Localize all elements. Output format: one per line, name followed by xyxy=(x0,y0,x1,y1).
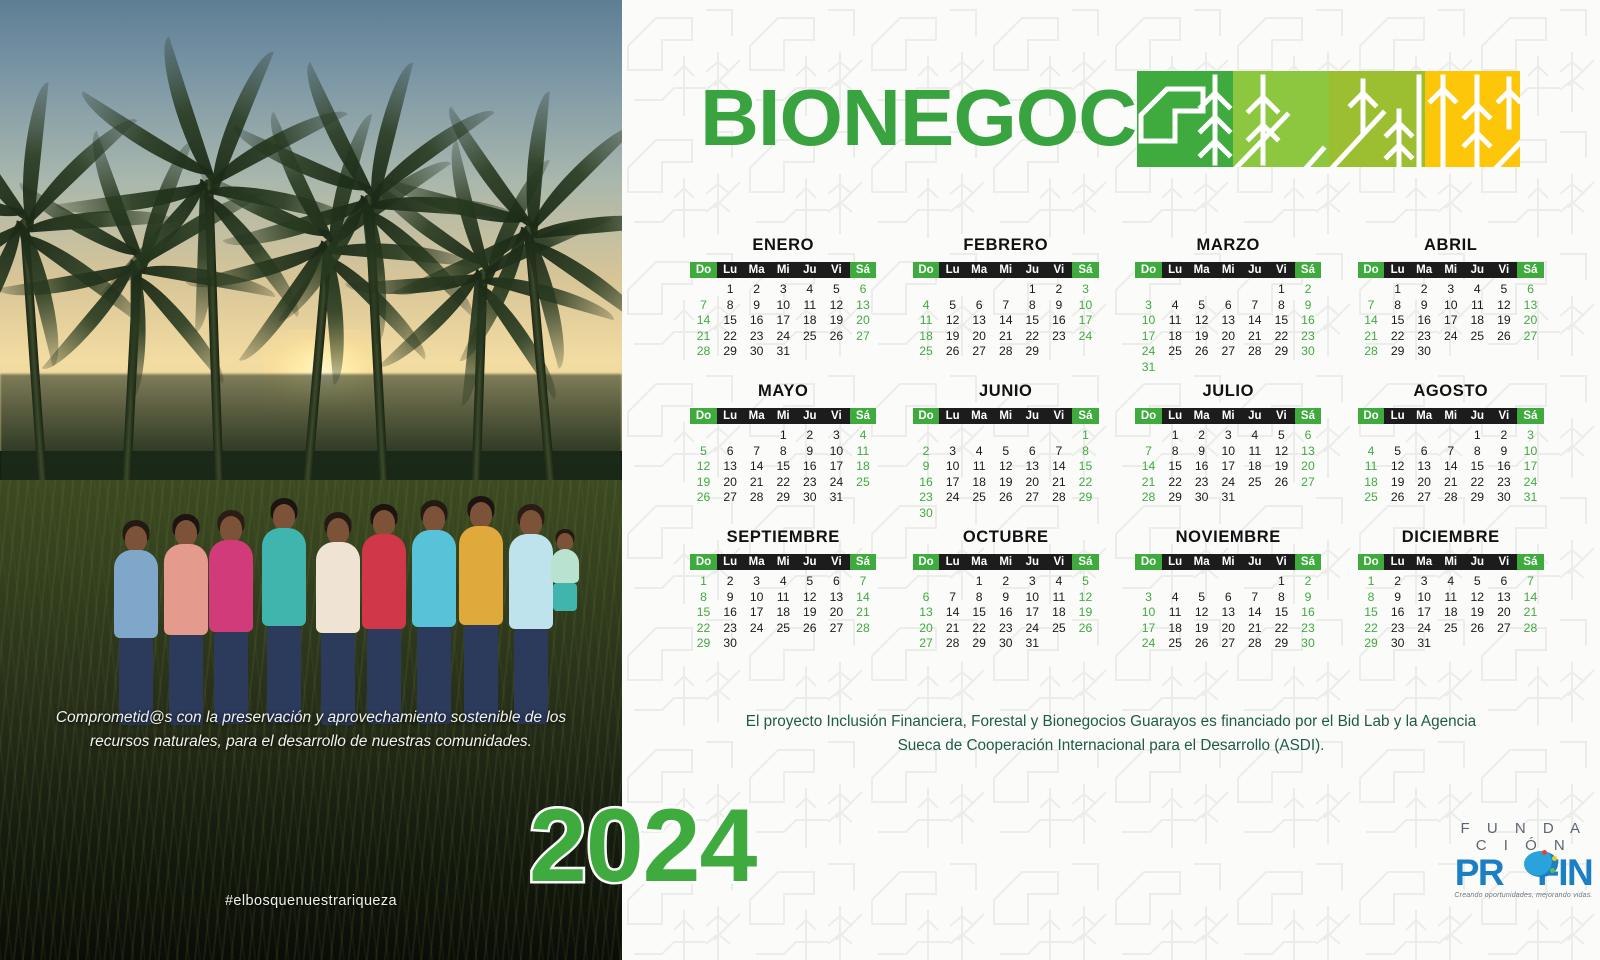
day-cell-empty xyxy=(939,428,966,444)
day-cell: 16 xyxy=(717,605,744,621)
day-cell: 26 xyxy=(1268,475,1295,491)
day-cell: 1 xyxy=(1358,574,1385,590)
day-cell: 13 xyxy=(1517,298,1544,314)
weekday-ju: Ju xyxy=(1242,554,1269,570)
day-cell: 8 xyxy=(770,444,797,460)
weekday-vi: Vi xyxy=(1046,408,1073,424)
day-cell: 6 xyxy=(717,444,744,460)
child-torso xyxy=(551,549,579,583)
weekday-do: Do xyxy=(1358,554,1385,570)
person-silhouette xyxy=(258,498,310,710)
day-cell: 24 xyxy=(823,475,850,491)
weekday-sá: Sá xyxy=(1295,408,1322,424)
day-cell: 17 xyxy=(1072,313,1099,329)
child-silhouette xyxy=(548,529,582,615)
weekday-ju: Ju xyxy=(1464,554,1491,570)
weekday-header-row: DoLuMaMiJuViSá xyxy=(1358,262,1544,278)
weekday-vi: Vi xyxy=(1046,554,1073,570)
day-cell: 1 xyxy=(966,574,993,590)
weekday-lu: Lu xyxy=(717,408,744,424)
weekday-ju: Ju xyxy=(1019,408,1046,424)
logo-row: F U N D A C I Ó N PRFIN Creando oportuni… xyxy=(1450,812,1600,907)
day-cell: 14 xyxy=(743,459,770,475)
day-cell: 10 xyxy=(1072,298,1099,314)
person-head xyxy=(373,510,395,536)
weekday-sá: Sá xyxy=(850,554,877,570)
profin-pre: PR xyxy=(1455,852,1503,893)
day-cell: 27 xyxy=(913,636,940,652)
day-cell-empty xyxy=(1135,282,1162,298)
weekday-vi: Vi xyxy=(1491,554,1518,570)
day-cell-empty xyxy=(1162,282,1189,298)
profin-tagline: Creando oportunidades, mejorando vidas. xyxy=(1450,892,1597,899)
day-cell: 16 xyxy=(1491,459,1518,475)
weekday-mi: Mi xyxy=(1215,554,1242,570)
day-cell: 5 xyxy=(797,574,824,590)
day-cell: 19 xyxy=(939,329,966,345)
profin-dot-green xyxy=(1550,868,1555,873)
day-cell: 30 xyxy=(797,490,824,506)
day-cell-empty xyxy=(1135,574,1162,590)
day-cell: 29 xyxy=(717,344,744,360)
day-cell: 7 xyxy=(1517,574,1544,590)
day-cell: 11 xyxy=(1242,444,1269,460)
day-cell: 29 xyxy=(1072,490,1099,506)
day-cell: 25 xyxy=(1437,621,1464,637)
weekday-ma: Ma xyxy=(1188,554,1215,570)
person-torso xyxy=(412,530,456,627)
day-cell: 30 xyxy=(913,506,940,522)
weekday-mi: Mi xyxy=(770,408,797,424)
day-cell: 25 xyxy=(770,621,797,637)
day-cell: 25 xyxy=(1162,636,1189,652)
day-cell: 27 xyxy=(1019,490,1046,506)
day-cell: 12 xyxy=(1188,605,1215,621)
day-cell: 22 xyxy=(1268,329,1295,345)
day-cell: 31 xyxy=(823,490,850,506)
day-cell-empty xyxy=(1188,282,1215,298)
weekday-lu: Lu xyxy=(1384,408,1411,424)
day-cell: 14 xyxy=(1437,459,1464,475)
weekday-do: Do xyxy=(1135,262,1162,278)
day-grid: 1234567891011121314151617181920212223242… xyxy=(1135,428,1321,506)
weekday-sá: Sá xyxy=(1517,408,1544,424)
day-cell: 19 xyxy=(1384,475,1411,491)
weekday-sá: Sá xyxy=(1517,262,1544,278)
day-cell: 24 xyxy=(1411,621,1438,637)
weekday-sá: Sá xyxy=(1517,554,1544,570)
day-cell: 26 xyxy=(1072,621,1099,637)
day-cell: 8 xyxy=(717,298,744,314)
day-cell: 9 xyxy=(797,444,824,460)
day-cell-empty xyxy=(690,428,717,444)
day-cell: 5 xyxy=(1188,590,1215,606)
day-cell: 6 xyxy=(966,298,993,314)
day-cell: 28 xyxy=(743,490,770,506)
day-cell: 19 xyxy=(797,605,824,621)
day-cell: 23 xyxy=(992,621,1019,637)
day-cell: 28 xyxy=(1358,344,1385,360)
month-febrero: FEBRERODoLuMaMiJuViSá1234567891011121314… xyxy=(895,236,1118,375)
weekday-mi: Mi xyxy=(770,262,797,278)
day-cell: 20 xyxy=(913,621,940,637)
day-cell: 20 xyxy=(1491,605,1518,621)
day-cell: 7 xyxy=(690,298,717,314)
day-cell: 9 xyxy=(1491,444,1518,460)
day-cell: 18 xyxy=(1046,605,1073,621)
person-head xyxy=(470,502,492,528)
day-cell: 20 xyxy=(823,605,850,621)
day-cell: 19 xyxy=(1268,459,1295,475)
day-cell: 17 xyxy=(1517,459,1544,475)
day-cell: 7 xyxy=(1437,444,1464,460)
person-head xyxy=(327,518,349,544)
day-cell-empty xyxy=(1242,282,1269,298)
month-title: DICIEMBRE xyxy=(1344,528,1559,547)
day-cell: 12 xyxy=(1491,298,1518,314)
day-cell: 21 xyxy=(1242,621,1269,637)
day-cell: 26 xyxy=(823,329,850,345)
weekday-vi: Vi xyxy=(1268,554,1295,570)
weekday-ju: Ju xyxy=(1019,262,1046,278)
day-cell: 6 xyxy=(1019,444,1046,460)
day-cell-empty xyxy=(743,428,770,444)
day-cell: 27 xyxy=(717,490,744,506)
day-cell: 30 xyxy=(1411,344,1438,360)
day-cell: 12 xyxy=(1464,590,1491,606)
day-cell: 2 xyxy=(1188,428,1215,444)
day-cell: 7 xyxy=(1046,444,1073,460)
day-cell: 4 xyxy=(1242,428,1269,444)
day-cell: 23 xyxy=(717,621,744,637)
day-cell: 6 xyxy=(1295,428,1322,444)
title-decorative-blocks xyxy=(1137,71,1520,167)
day-cell: 19 xyxy=(1491,313,1518,329)
profin-globe-icon xyxy=(1524,851,1558,877)
day-cell: 17 xyxy=(1411,605,1438,621)
weekday-do: Do xyxy=(1358,262,1385,278)
day-cell: 8 xyxy=(966,590,993,606)
day-cell: 10 xyxy=(823,444,850,460)
day-cell: 22 xyxy=(717,329,744,345)
day-cell: 20 xyxy=(1295,459,1322,475)
person-torso xyxy=(114,550,158,637)
day-cell: 18 xyxy=(1464,313,1491,329)
weekday-ma: Ma xyxy=(966,554,993,570)
day-cell: 28 xyxy=(1242,636,1269,652)
day-cell: 14 xyxy=(1517,590,1544,606)
day-cell: 15 xyxy=(1268,313,1295,329)
month-title: MARZO xyxy=(1121,236,1336,255)
day-cell-empty xyxy=(1162,574,1189,590)
weekday-ma: Ma xyxy=(1411,408,1438,424)
day-cell: 21 xyxy=(690,329,717,345)
day-cell: 3 xyxy=(1411,574,1438,590)
day-cell: 23 xyxy=(913,490,940,506)
profin-fundacion-text: F U N D A C I Ó N xyxy=(1450,820,1597,854)
day-cell: 4 xyxy=(1464,282,1491,298)
month-title: MAYO xyxy=(676,382,891,401)
month-title: FEBRERO xyxy=(899,236,1114,255)
weekday-lu: Lu xyxy=(939,408,966,424)
day-cell: 15 xyxy=(1384,313,1411,329)
day-cell-empty xyxy=(992,282,1019,298)
day-cell-empty xyxy=(1215,574,1242,590)
day-cell: 20 xyxy=(717,475,744,491)
day-cell: 24 xyxy=(1517,475,1544,491)
day-cell: 12 xyxy=(939,313,966,329)
day-cell: 17 xyxy=(1437,313,1464,329)
day-cell: 17 xyxy=(1135,329,1162,345)
day-cell-empty xyxy=(1411,428,1438,444)
day-cell: 24 xyxy=(1437,329,1464,345)
day-cell: 13 xyxy=(1295,444,1322,460)
weekday-do: Do xyxy=(913,408,940,424)
day-cell: 5 xyxy=(1072,574,1099,590)
day-cell: 15 xyxy=(1464,459,1491,475)
day-cell-empty xyxy=(1019,428,1046,444)
day-grid: 1234567891011121314151617181920212223242… xyxy=(1358,428,1544,506)
weekday-ju: Ju xyxy=(1242,408,1269,424)
weekday-header-row: DoLuMaMiJuViSá xyxy=(913,408,1099,424)
day-cell: 30 xyxy=(1295,636,1322,652)
day-cell: 14 xyxy=(1135,459,1162,475)
day-cell: 14 xyxy=(1242,313,1269,329)
day-cell: 28 xyxy=(690,344,717,360)
weekday-ju: Ju xyxy=(797,554,824,570)
day-cell: 12 xyxy=(1072,590,1099,606)
day-cell: 3 xyxy=(743,574,770,590)
month-title: JUNIO xyxy=(899,382,1114,401)
child-legs xyxy=(553,583,577,611)
day-cell-empty xyxy=(717,428,744,444)
day-grid: 1234567891011121314151617181920212223242… xyxy=(1358,282,1544,360)
day-cell-empty xyxy=(966,428,993,444)
day-cell: 23 xyxy=(743,329,770,345)
day-cell: 2 xyxy=(797,428,824,444)
day-cell: 20 xyxy=(1215,329,1242,345)
day-cell: 13 xyxy=(1215,313,1242,329)
day-cell: 27 xyxy=(1411,490,1438,506)
day-grid: 1234567891011121314151617181920212223242… xyxy=(690,428,876,506)
day-cell: 30 xyxy=(743,344,770,360)
day-cell: 25 xyxy=(1162,344,1189,360)
day-cell: 31 xyxy=(770,344,797,360)
weekday-do: Do xyxy=(690,554,717,570)
weekday-vi: Vi xyxy=(1268,408,1295,424)
day-cell: 21 xyxy=(1358,329,1385,345)
day-cell: 24 xyxy=(1019,621,1046,637)
day-cell: 9 xyxy=(913,459,940,475)
person-torso xyxy=(209,540,253,632)
month-noviembre: NOVIEMBREDoLuMaMiJuViSá12345678910111213… xyxy=(1117,528,1340,652)
day-cell: 10 xyxy=(1411,590,1438,606)
day-cell: 14 xyxy=(850,590,877,606)
day-cell: 20 xyxy=(850,313,877,329)
day-cell: 29 xyxy=(1464,490,1491,506)
day-cell: 4 xyxy=(1437,574,1464,590)
weekday-lu: Lu xyxy=(717,554,744,570)
day-cell: 18 xyxy=(1358,475,1385,491)
day-cell: 4 xyxy=(797,282,824,298)
day-cell: 8 xyxy=(1162,444,1189,460)
calendar-poster: Comprometid@s con la preservación y apro… xyxy=(0,0,1600,960)
day-cell: 1 xyxy=(1268,574,1295,590)
weekday-ju: Ju xyxy=(797,262,824,278)
day-cell: 16 xyxy=(743,313,770,329)
day-cell: 21 xyxy=(1242,329,1269,345)
day-cell: 3 xyxy=(1215,428,1242,444)
day-cell: 3 xyxy=(1437,282,1464,298)
month-title: JULIO xyxy=(1121,382,1336,401)
day-cell: 25 xyxy=(797,329,824,345)
weekday-do: Do xyxy=(913,262,940,278)
weekday-ma: Ma xyxy=(743,554,770,570)
day-cell: 1 xyxy=(1384,282,1411,298)
day-cell: 17 xyxy=(743,605,770,621)
day-cell-empty xyxy=(939,282,966,298)
day-cell: 23 xyxy=(1046,329,1073,345)
day-cell: 30 xyxy=(717,636,744,652)
day-cell: 5 xyxy=(939,298,966,314)
weekday-sá: Sá xyxy=(1072,408,1099,424)
day-cell: 11 xyxy=(797,298,824,314)
day-cell: 19 xyxy=(992,475,1019,491)
day-cell: 20 xyxy=(1019,475,1046,491)
day-cell: 23 xyxy=(1384,621,1411,637)
weekday-ma: Ma xyxy=(966,408,993,424)
month-title: NOVIEMBRE xyxy=(1121,528,1336,547)
day-cell: 20 xyxy=(966,329,993,345)
day-cell: 31 xyxy=(1019,636,1046,652)
weekday-ma: Ma xyxy=(1188,262,1215,278)
day-cell: 12 xyxy=(1188,313,1215,329)
day-cell: 18 xyxy=(1437,605,1464,621)
day-cell: 25 xyxy=(1046,621,1073,637)
day-cell: 13 xyxy=(1411,459,1438,475)
day-cell: 7 xyxy=(1358,298,1385,314)
day-cell: 3 xyxy=(1072,282,1099,298)
weekday-mi: Mi xyxy=(992,554,1019,570)
day-cell: 26 xyxy=(797,621,824,637)
weekday-sá: Sá xyxy=(1072,554,1099,570)
day-cell-empty xyxy=(992,428,1019,444)
day-grid: 1234567891011121314151617181920212223242… xyxy=(913,282,1099,360)
day-cell: 25 xyxy=(850,475,877,491)
weekday-sá: Sá xyxy=(850,408,877,424)
day-cell: 31 xyxy=(1135,360,1162,376)
weekday-vi: Vi xyxy=(1046,262,1073,278)
day-cell: 2 xyxy=(1046,282,1073,298)
day-cell: 11 xyxy=(913,313,940,329)
day-cell: 11 xyxy=(1437,590,1464,606)
day-cell: 12 xyxy=(1384,459,1411,475)
day-cell: 2 xyxy=(1384,574,1411,590)
day-cell: 26 xyxy=(1464,621,1491,637)
day-cell: 19 xyxy=(1188,329,1215,345)
weekday-vi: Vi xyxy=(1491,262,1518,278)
weekday-vi: Vi xyxy=(1268,262,1295,278)
day-cell: 22 xyxy=(966,621,993,637)
weekday-ma: Ma xyxy=(743,262,770,278)
month-title: SEPTIEMBRE xyxy=(676,528,891,547)
day-cell: 20 xyxy=(1215,621,1242,637)
weekday-ma: Ma xyxy=(1188,408,1215,424)
weekday-mi: Mi xyxy=(1215,262,1242,278)
profin-wordmark: PRFIN xyxy=(1450,854,1597,892)
day-cell: 10 xyxy=(1019,590,1046,606)
day-cell: 23 xyxy=(1411,329,1438,345)
person-torso xyxy=(362,534,406,629)
month-enero: ENERODoLuMaMiJuViSá123456789101112131415… xyxy=(672,236,895,375)
day-cell: 16 xyxy=(1384,605,1411,621)
day-cell: 5 xyxy=(992,444,1019,460)
day-cell: 16 xyxy=(1295,313,1322,329)
day-grid: 1234567891011121314151617181920212223242… xyxy=(690,282,876,360)
month-title: OCTUBRE xyxy=(899,528,1114,547)
logo-fundacion-profin: F U N D A C I Ó N PRFIN Creando oportuni… xyxy=(1450,821,1597,899)
funding-text: El proyecto Inclusión Financiera, Forest… xyxy=(622,710,1600,757)
weekday-do: Do xyxy=(913,554,940,570)
day-cell: 26 xyxy=(992,490,1019,506)
day-cell: 22 xyxy=(770,475,797,491)
day-cell: 24 xyxy=(939,490,966,506)
day-cell: 18 xyxy=(770,605,797,621)
day-cell: 21 xyxy=(992,329,1019,345)
day-cell: 1 xyxy=(1019,282,1046,298)
day-cell: 9 xyxy=(1384,590,1411,606)
day-cell: 5 xyxy=(1464,574,1491,590)
day-cell: 29 xyxy=(966,636,993,652)
day-cell: 6 xyxy=(1491,574,1518,590)
day-cell: 22 xyxy=(1464,475,1491,491)
day-cell: 18 xyxy=(1242,459,1269,475)
day-cell-empty xyxy=(1046,428,1073,444)
person-silhouette xyxy=(358,504,410,710)
day-cell: 19 xyxy=(1188,621,1215,637)
day-cell: 11 xyxy=(966,459,993,475)
weekday-do: Do xyxy=(1358,408,1385,424)
day-cell: 27 xyxy=(823,621,850,637)
day-cell: 14 xyxy=(1242,605,1269,621)
day-grid: 1234567891011121314151617181920212223242… xyxy=(690,574,876,652)
month-abril: ABRILDoLuMaMiJuViSá123456789101112131415… xyxy=(1340,236,1563,375)
day-cell: 8 xyxy=(690,590,717,606)
day-cell: 19 xyxy=(823,313,850,329)
day-cell: 15 xyxy=(690,605,717,621)
day-cell: 24 xyxy=(770,329,797,345)
weekday-sá: Sá xyxy=(850,262,877,278)
day-cell: 21 xyxy=(1437,475,1464,491)
day-cell: 24 xyxy=(1215,475,1242,491)
day-cell: 23 xyxy=(1295,329,1322,345)
weekday-lu: Lu xyxy=(1162,262,1189,278)
weekday-vi: Vi xyxy=(823,408,850,424)
day-cell: 4 xyxy=(1046,574,1073,590)
day-cell: 29 xyxy=(1358,636,1385,652)
day-cell: 18 xyxy=(966,475,993,491)
weekday-lu: Lu xyxy=(717,262,744,278)
day-cell: 17 xyxy=(823,459,850,475)
day-cell: 29 xyxy=(1019,344,1046,360)
day-cell: 4 xyxy=(770,574,797,590)
day-cell: 30 xyxy=(1295,344,1322,360)
weekday-header-row: DoLuMaMiJuViSá xyxy=(1135,554,1321,570)
day-cell: 22 xyxy=(1268,621,1295,637)
weekday-mi: Mi xyxy=(1215,408,1242,424)
day-cell: 11 xyxy=(1358,459,1385,475)
day-cell: 21 xyxy=(850,605,877,621)
